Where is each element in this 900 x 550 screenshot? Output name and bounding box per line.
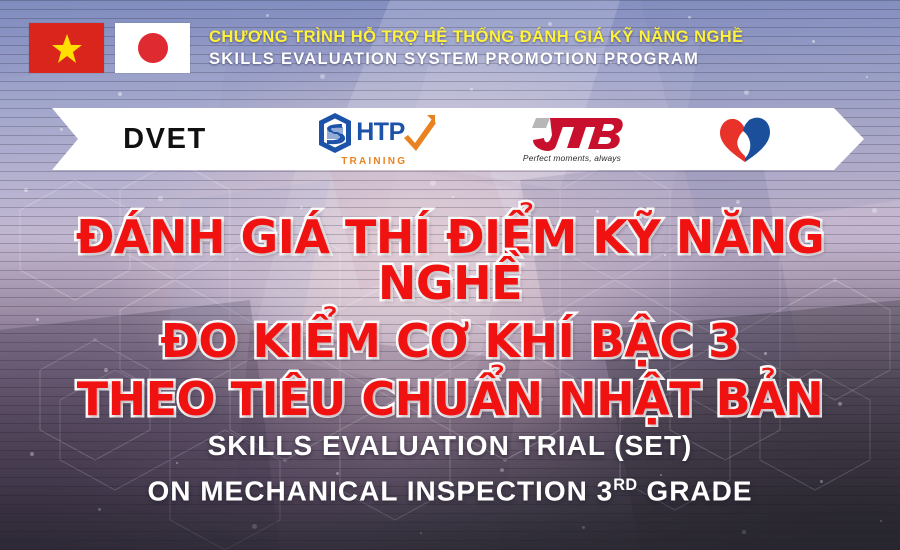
jtb-logo-tagline: Perfect moments, always [523, 153, 621, 163]
headline-line-2: ĐO KIỂM CƠ KHÍ BẬC 3 [0, 318, 900, 364]
dvet-logo: DVET [52, 123, 278, 156]
shtp-logo: HTP TRAINING [278, 112, 474, 167]
dvet-logo-label: DVET [123, 123, 207, 156]
headline-line-3: THEO TIÊU CHUẨN NHẬT BẢN [0, 376, 900, 422]
shtp-logo-tagline: TRAINING [341, 156, 407, 167]
vietnam-flag-icon [29, 23, 104, 73]
subhead-line-2-prefix: ON MECHANICAL INSPECTION 3 [147, 475, 613, 506]
headline-line-1: ĐÁNH GIÁ THÍ ĐIỂM KỸ NĂNG NGHỀ [0, 214, 900, 306]
header-title-english: SKILLS EVALUATION SYSTEM PROMOTION PROGR… [209, 50, 744, 68]
promo-banner: CHƯƠNG TRÌNH HỖ TRỢ HỆ THỐNG ĐÁNH GIÁ KỸ… [0, 0, 900, 550]
subhead-line-1: SKILLS EVALUATION TRIAL (SET) [0, 432, 900, 460]
shtp-logo-label: HTP [356, 120, 405, 145]
main-headline: ĐÁNH GIÁ THÍ ĐIỂM KỸ NĂNG NGHỀ ĐO KIỂM C… [0, 214, 900, 422]
heart-people-icon [718, 113, 772, 165]
japan-flag-icon [115, 23, 190, 73]
jtb-wordmark-icon [520, 116, 624, 152]
flag-group [29, 23, 190, 73]
subhead-ordinal-suffix: RD [613, 476, 637, 494]
japan-sun-disc [138, 33, 168, 63]
english-subhead: SKILLS EVALUATION TRIAL (SET) ON MECHANI… [0, 432, 900, 505]
jtb-logo: Perfect moments, always [474, 116, 670, 163]
header-title-vietnamese: CHƯƠNG TRÌNH HỖ TRỢ HỆ THỐNG ĐÁNH GIÁ KỸ… [209, 28, 744, 46]
heart-people-logo [670, 113, 820, 165]
subhead-line-2: ON MECHANICAL INSPECTION 3RD GRADE [0, 477, 900, 505]
shtp-hexagon-s-icon [315, 112, 355, 154]
logo-band: DVET [52, 108, 864, 170]
shtp-checkmark-arrow-icon [403, 113, 437, 153]
subhead-line-2-suffix: GRADE [638, 475, 753, 506]
header-titles: CHƯƠNG TRÌNH HỖ TRỢ HỆ THỐNG ĐÁNH GIÁ KỸ… [209, 28, 744, 69]
header-bar: CHƯƠNG TRÌNH HỖ TRỢ HỆ THỐNG ĐÁNH GIÁ KỸ… [0, 0, 900, 96]
